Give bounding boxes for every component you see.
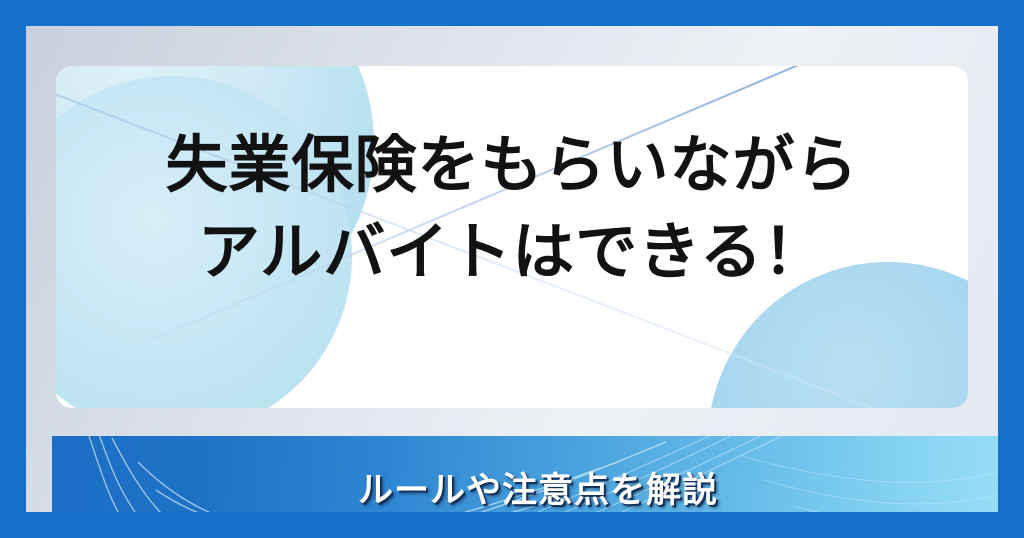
title-line-1: 失業保険をもらいながら <box>0 122 1024 209</box>
subtitle-banner: ルールや注意点を解説 <box>52 436 998 512</box>
subtitle-text: ルールや注意点を解説 <box>52 462 998 512</box>
poster-canvas: ルールや注意点を解説 失業保険をもらいながら アルバイトはできる！ <box>0 0 1024 538</box>
title-line-2: アルバイトはできる！ <box>0 209 1024 296</box>
title-block: 失業保険をもらいながら アルバイトはできる！ <box>0 122 1024 296</box>
